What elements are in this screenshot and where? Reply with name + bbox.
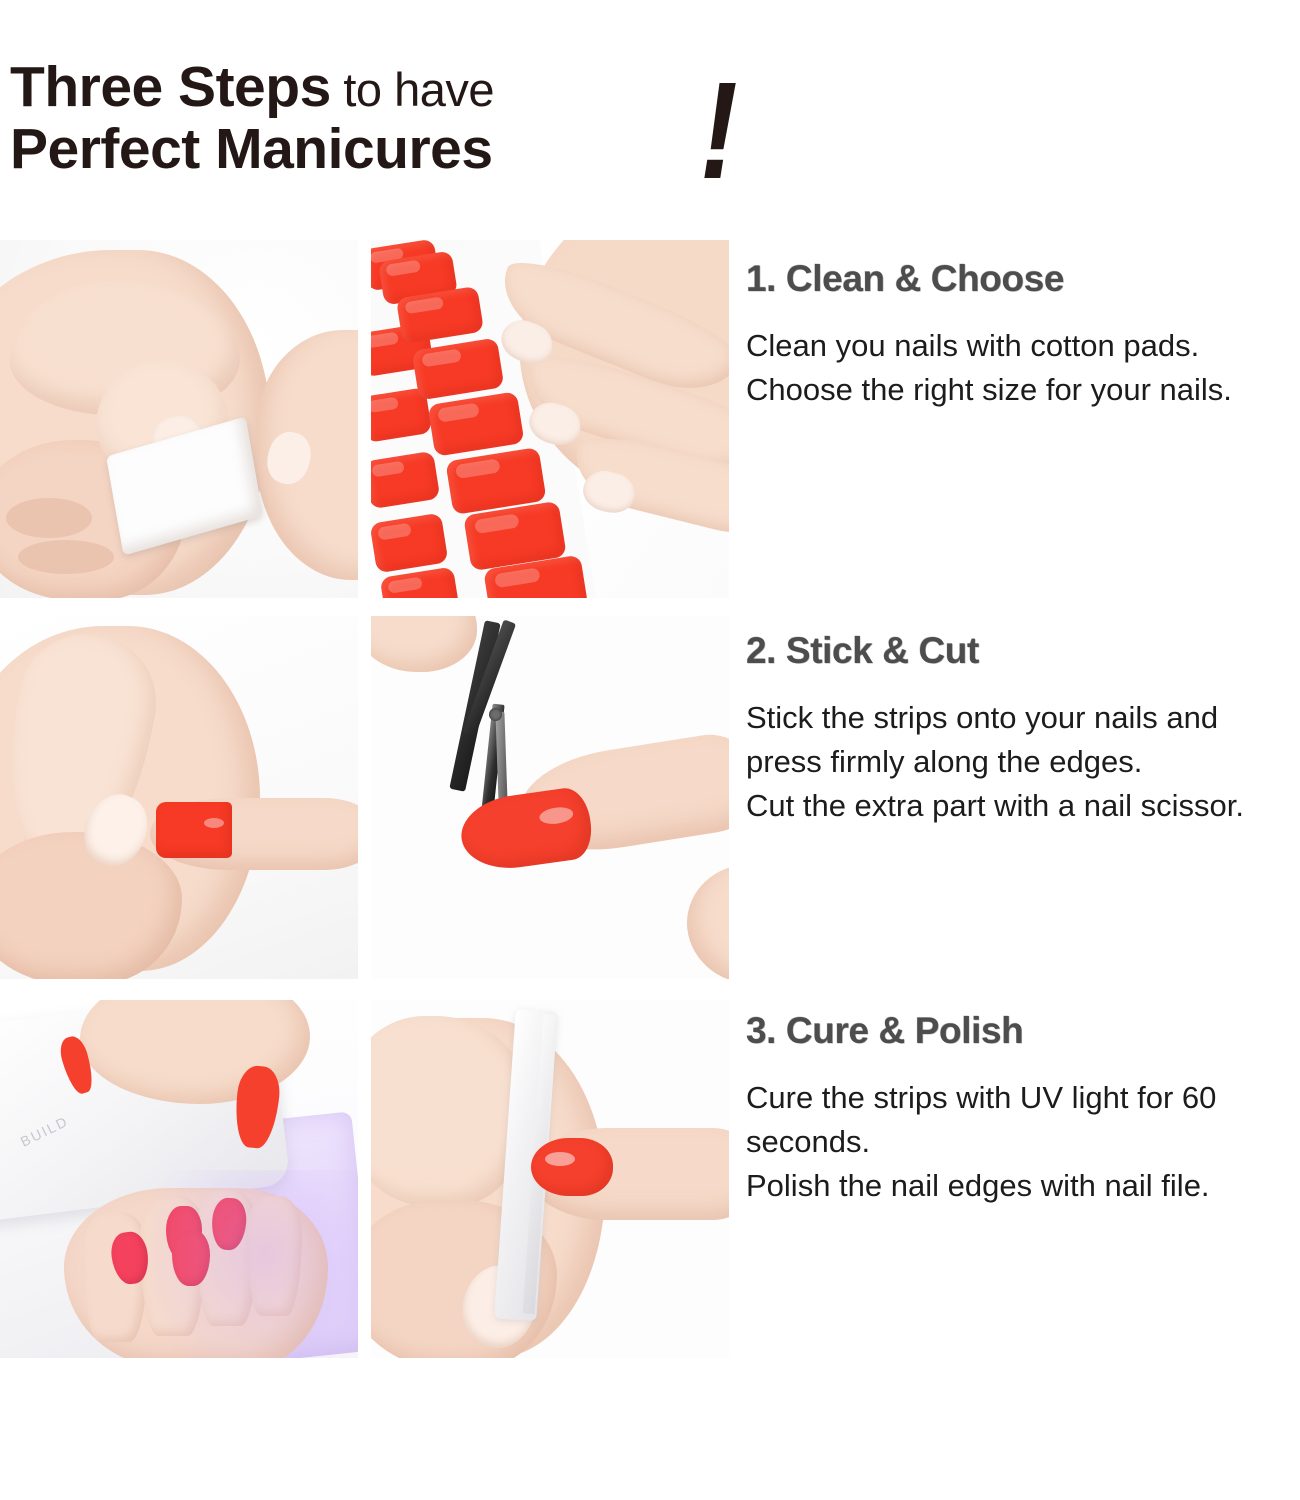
photo-clean-nail-cotton-pad	[0, 240, 358, 598]
photo-grid: BUILD	[0, 240, 730, 1358]
step-3-line-2: Polish the nail edges with nail file.	[746, 1164, 1300, 1208]
step-1-line-1: Clean you nails with cotton pads.	[746, 324, 1300, 368]
finger-shape	[246, 1196, 302, 1316]
step-2-title: 2. Stick & Cut	[746, 630, 1300, 672]
steps-column: 1. Clean & Choose Clean you nails with c…	[746, 240, 1300, 1360]
headline-light-1: to have	[331, 63, 494, 116]
photo-tile-cut-strip-with-scissor	[371, 616, 729, 979]
knuckle-crease	[18, 540, 114, 574]
step-2-line-1: Stick the strips onto your nails and pre…	[746, 696, 1300, 784]
photo-red-nail-strip-sheet	[371, 240, 729, 598]
headline-strong-2: Perfect Manicures	[10, 117, 493, 181]
red-nail-shape	[531, 1138, 613, 1196]
step-2: 2. Stick & Cut Stick the strips onto you…	[746, 630, 1300, 828]
red-nail-shape	[172, 1230, 210, 1286]
headline-line-2: Perfect Manicures	[10, 120, 493, 178]
photo-tile-polish-edges-nail-file	[371, 1000, 729, 1358]
headline-block: Three Steps to have Perfect Manicures	[10, 58, 800, 208]
photo-tile-stick-strip-on-nail	[0, 616, 358, 979]
step-2-line-2: Cut the extra part with a nail scissor.	[746, 784, 1300, 828]
photo-tile-clean-nail-cotton-pad	[0, 240, 358, 598]
step-3-body: Cure the strips with UV light for 60 sec…	[746, 1076, 1300, 1208]
step-1: 1. Clean & Choose Clean you nails with c…	[746, 258, 1300, 412]
headline-strong-1: Three Steps	[10, 55, 331, 119]
step-1-body: Clean you nails with cotton pads. Choose…	[746, 324, 1300, 412]
photo-cut-strip-with-scissor	[371, 616, 729, 979]
step-1-title: 1. Clean & Choose	[746, 258, 1300, 300]
step-3: 3. Cure & Polish Cure the strips with UV…	[746, 1010, 1300, 1208]
photo-tile-cure-with-uv-lamp: BUILD	[0, 1000, 358, 1358]
step-1-line-2: Choose the right size for your nails.	[746, 368, 1300, 412]
step-3-title: 3. Cure & Polish	[746, 1010, 1300, 1052]
infographic-page: Three Steps to have Perfect Manicures !	[0, 0, 1300, 1500]
photo-tile-red-nail-strip-sheet	[371, 240, 729, 598]
scissor-pivot-icon	[489, 708, 502, 721]
step-3-line-1: Cure the strips with UV light for 60 sec…	[746, 1076, 1300, 1164]
exclamation-mark: !	[700, 62, 738, 200]
photo-stick-strip-on-nail	[0, 616, 358, 979]
headline-line-1: Three Steps to have	[10, 58, 494, 116]
knuckle-crease	[6, 498, 92, 538]
photo-polish-edges-nail-file	[371, 1000, 729, 1358]
photo-cure-with-uv-lamp: BUILD	[0, 1000, 358, 1358]
red-nail-strip	[156, 802, 232, 858]
step-2-body: Stick the strips onto your nails and pre…	[746, 696, 1300, 828]
